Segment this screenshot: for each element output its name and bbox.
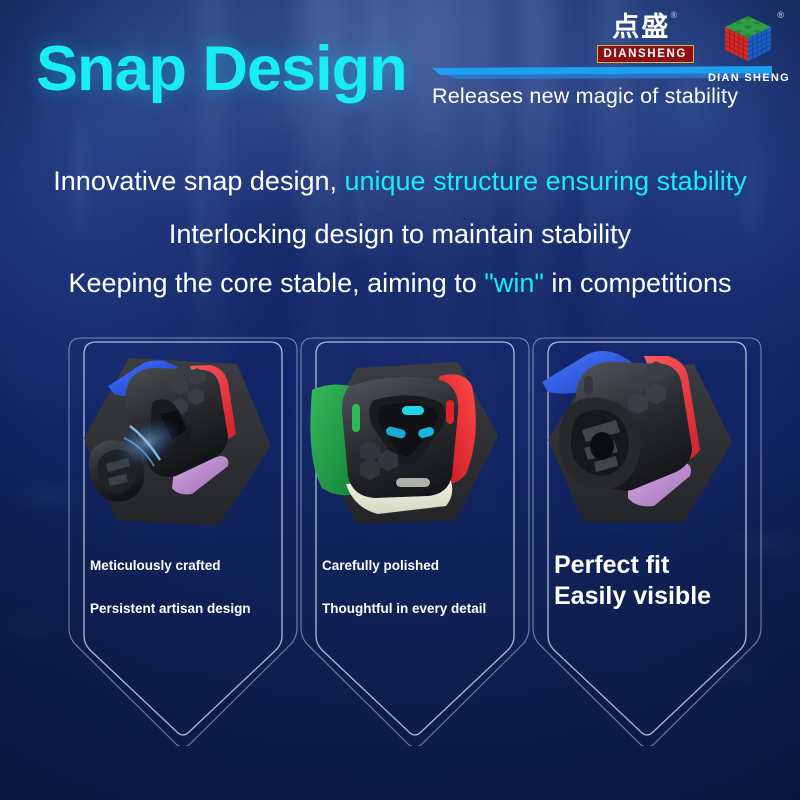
panel-2-caption-1: Carefully polished <box>322 558 522 573</box>
brand-badge: DIANSHENG <box>597 45 694 63</box>
cube-logo-label: DIAN SHENG <box>708 72 790 84</box>
brand-logo-lockup: 点盛® DIANSHENG <box>597 14 790 84</box>
panel-3-caption-2: Easily visible <box>554 581 754 612</box>
feature-3-plain: Keeping the core stable, aiming to <box>68 268 484 298</box>
feature-line-2: Interlocking design to maintain stabilit… <box>0 219 800 250</box>
panel-3-caption-1: Perfect fit <box>554 550 754 581</box>
panel-2-captions: Carefully polished Thoughtful in every d… <box>322 558 522 616</box>
page-title: Snap Design <box>36 38 407 101</box>
feature-line-3: Keeping the core stable, aiming to "win"… <box>0 268 800 299</box>
registered-mark: ® <box>777 10 784 20</box>
feature-panel-3[interactable]: Perfect fit Easily visible <box>532 336 762 746</box>
feature-panels: Meticulously crafted Persistent artisan … <box>0 336 800 746</box>
product-image-2 <box>300 342 530 557</box>
panel-3-captions: Perfect fit Easily visible <box>554 550 754 611</box>
diansheng-wordmark: 点盛® DIANSHENG <box>597 14 694 63</box>
product-image-3 <box>532 342 762 557</box>
feature-3-highlight: "win" <box>484 268 544 298</box>
poster-canvas: Snap Design Releases new magic of stabil… <box>0 0 800 800</box>
panel-1-caption-2: Persistent artisan design <box>90 601 290 616</box>
registered-mark: ® <box>670 11 679 20</box>
feature-line-1: Innovative snap design, unique structure… <box>0 166 800 197</box>
brand-chinese-name: 点盛® <box>612 14 678 41</box>
feature-2-plain: Interlocking design to maintain stabilit… <box>169 219 631 249</box>
feature-1-highlight: unique structure ensuring stability <box>344 166 746 196</box>
feature-3-tail: in competitions <box>544 268 732 298</box>
product-image-1 <box>68 342 298 557</box>
page-subtitle: Releases new magic of stability <box>432 84 782 109</box>
panel-2-caption-2: Thoughtful in every detail <box>322 601 522 616</box>
feature-panel-1[interactable]: Meticulously crafted Persistent artisan … <box>68 336 298 746</box>
cube-logo-block: ® DIAN SHENG <box>708 14 790 84</box>
rubiks-cube-icon: ® <box>723 14 775 69</box>
feature-1-plain: Innovative snap design, <box>53 166 344 196</box>
panel-1-caption-1: Meticulously crafted <box>90 558 290 573</box>
feature-panel-2[interactable]: Carefully polished Thoughtful in every d… <box>300 336 530 746</box>
brand-cn-text: 点盛 <box>612 12 670 42</box>
panel-1-captions: Meticulously crafted Persistent artisan … <box>90 558 290 616</box>
